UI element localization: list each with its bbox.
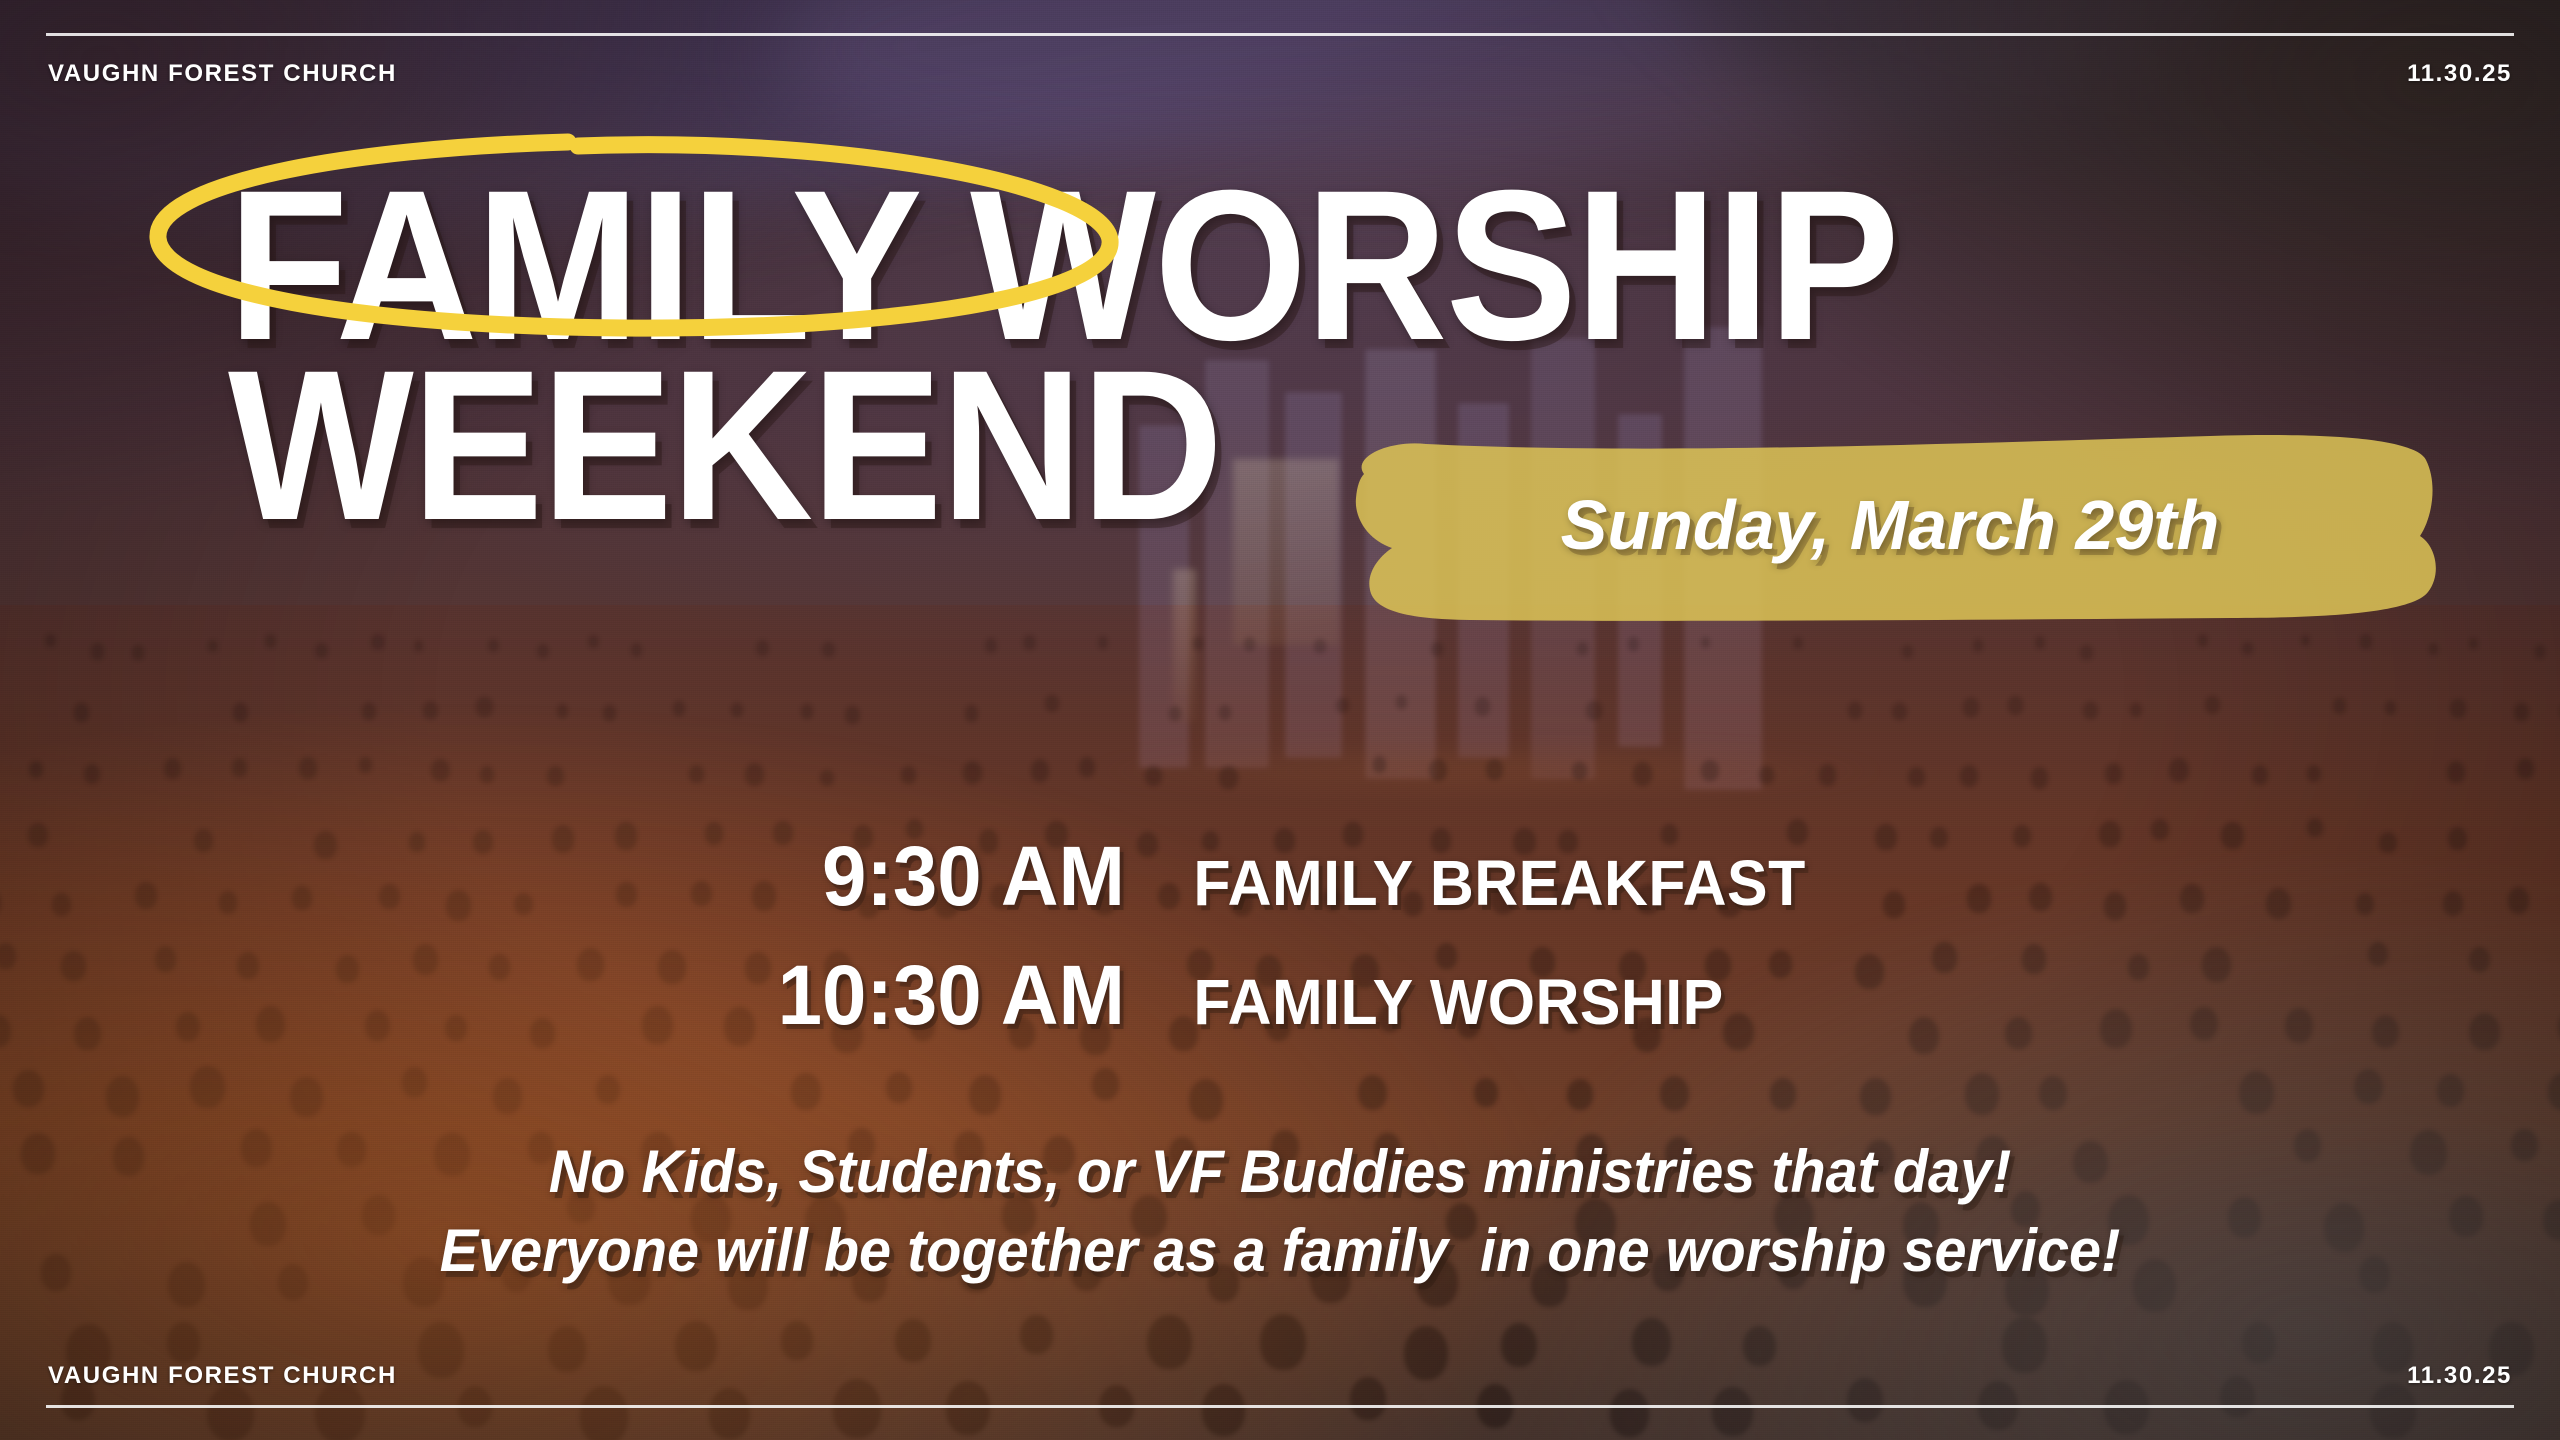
schedule-list: 9:30 AM FAMILY BREAKFAST 10:30 AM FAMILY… [0,828,2560,1066]
header-organization: VAUGHN FOREST CHURCH [48,60,397,88]
schedule-label: FAMILY BREAKFAST [1125,846,1866,920]
slide-content: VAUGHN FOREST CHURCH 11.30.25 FAMILY WOR… [0,0,2560,1440]
headline-line-2: WEEKEND [228,352,1221,540]
schedule-time: 10:30 AM [679,947,1126,1044]
body-line-2: Everyone will be together as a family in… [51,1211,2509,1290]
body-line-1: No Kids, Students, or VF Buddies ministr… [51,1132,2509,1211]
schedule-row: 10:30 AM FAMILY WORSHIP [0,947,2560,1044]
event-date-label: Sunday, March 29th [1330,485,2450,565]
schedule-row: 9:30 AM FAMILY BREAKFAST [0,828,2560,925]
event-date-banner: Sunday, March 29th [1330,414,2450,636]
footer-date: 11.30.25 [2407,1362,2512,1390]
body-copy-block: No Kids, Students, or VF Buddies ministr… [0,1132,2560,1290]
headline-row-1: FAMILY WORSHIP [228,172,2408,322]
footer-organization: VAUGHN FOREST CHURCH [48,1362,397,1390]
header-date: 11.30.25 [2407,60,2512,88]
schedule-time: 9:30 AM [679,828,1126,925]
schedule-label: FAMILY WORSHIP [1125,965,1866,1039]
announcement-slide: VAUGHN FOREST CHURCH 11.30.25 FAMILY WOR… [0,0,2560,1440]
header-divider-rule [46,33,2514,36]
footer-divider-rule [46,1405,2514,1408]
